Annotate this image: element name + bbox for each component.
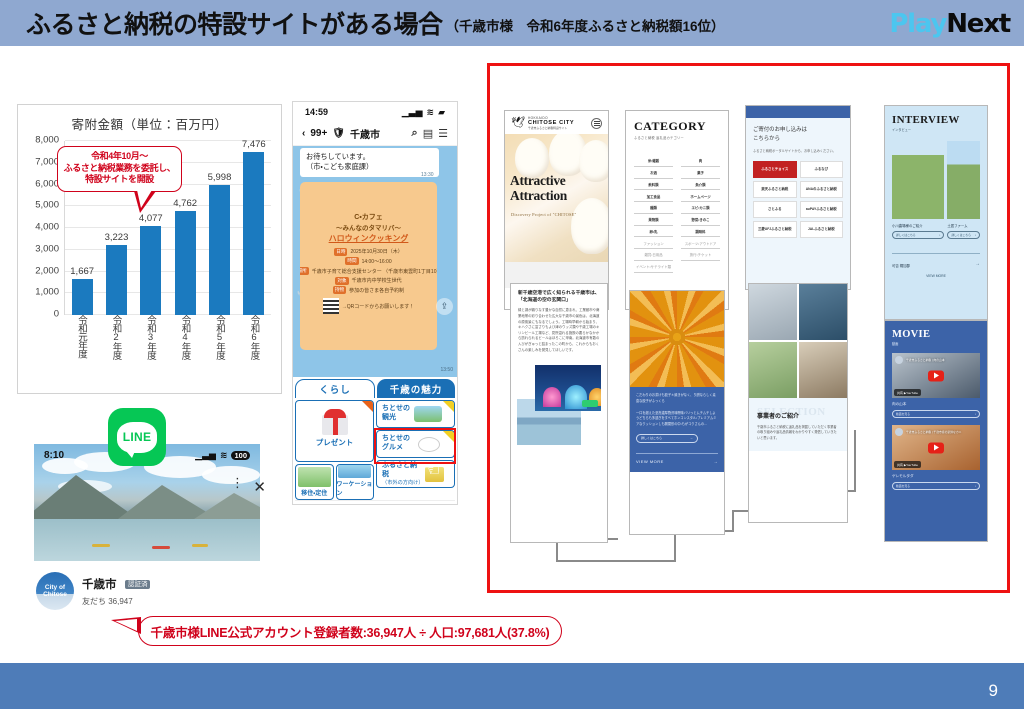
category-title: CATEGORY (634, 119, 720, 134)
slide-header: ふるさと納税の特設サイトがある場合 （千歳市様 令和6年度ふるさと納税額16位）… (0, 0, 1024, 46)
video-caption: 肉の山本 (892, 402, 980, 407)
chart-y-tick: 7,000 (35, 156, 59, 167)
arrow-right-icon: → (690, 436, 693, 440)
chart-x-tick: 令和6年度 (249, 315, 259, 387)
interview-caption-2: 土居ファーム (947, 223, 980, 228)
chart-x-tick-cell: 令和3年度 (133, 315, 168, 387)
chart-bar (209, 185, 230, 315)
video-header: 千歳市ふるさと納税 | 千歳市産の新鮮なカニ (895, 428, 977, 436)
playnext-logo: PlayNext (889, 9, 1010, 39)
kayak-shape (192, 544, 208, 547)
gift-icon (322, 415, 348, 435)
category-subtitle: ふるさと納税 返礼品カテゴリー (634, 135, 720, 140)
hero-title-line-2: Attraction (510, 188, 567, 203)
category-item[interactable]: イベント・サテライト類 (634, 261, 673, 273)
back-icon[interactable]: ‹ (302, 128, 305, 139)
site-mockup-top: 🕊 HOKKAIDO CHITOSE CITY 千歳市ふるさと納税特設サイト A… (504, 110, 609, 310)
hamburger-menu-icon[interactable] (591, 118, 602, 129)
phone-status-icons: ▁▃▅ ≋ ▰ (402, 107, 445, 118)
lake-water (34, 519, 260, 561)
hero-title-line-1: Attractive (510, 173, 565, 188)
selection-heading: 事業者のご紹介 (757, 411, 839, 420)
portal-logo-3[interactable]: 楽天ふるさと納税 (753, 181, 797, 198)
poster-title-2: ～みんなのタマリバ～ (304, 222, 433, 232)
poster-row-text: 2025年10月30日（木） (350, 248, 402, 255)
line-chat-phone-screenshot: 14:59 ▁▃▅ ≋ ▰ ‹ 99+ 🛡 千歳市 ⌕ ▤ ☰ 👻 👻 👻 お待… (292, 101, 458, 505)
video-caption: ゲレモルタダ (892, 474, 980, 479)
avatar-line-1: City of (45, 584, 65, 591)
meringue-shape (579, 140, 608, 182)
panel-top-strip (746, 106, 850, 118)
site-mockup-donation: ご寄付のお申し込みは こちらから ふるさと納税ポータルサイトから、お申し込みくだ… (745, 105, 851, 290)
video-thumbnail[interactable]: 千歳市ふるさと納税 | 肉の山本共有 ▶YouTube (892, 353, 980, 398)
product-paragraph-1: こだわりのお茶けも餃子＊焼きがなく、り餅ならしく素直な餃子がふっくら (636, 393, 718, 405)
close-icon[interactable]: ✕ (253, 478, 266, 496)
intro-heading-1: 新千歳空港で広く知られる千歳市は、 (518, 290, 600, 297)
avatar-line-2: Chitose (43, 591, 67, 598)
interview-title: INTERVIEW (892, 114, 980, 126)
poster-row-tag: 場所 (300, 267, 309, 275)
share-icon[interactable]: ⇪ (436, 298, 453, 315)
rich-menu-small-tiles: 移住・定住 ワーケーション (295, 464, 374, 500)
video-title: 千歳市ふるさと納税 | 千歳市産の新鮮なカニ (906, 430, 961, 434)
product-detail-label: 詳しくはこちら (641, 436, 662, 440)
site-mockup-intro: 新千歳空港で広く知られる千歳市は、 「北海道の空の玄関口」 緑と湖が織りなす豊か… (510, 283, 608, 543)
chat-message-bubble: お待ちしています。（市・こども家庭課） (300, 148, 439, 177)
chart-bar-group: 5,998 (202, 141, 236, 315)
line-registration-callout: 千歳市様LINE公式アカウント登録者数:36,947人 ÷ 人口:97,681人… (138, 616, 562, 646)
poster-row-tag: 日時 (334, 248, 347, 256)
callout-tail (134, 191, 156, 213)
selection-paragraph: 千歳市ふるさと納税に返礼品を掲載していただく事業者の取り組みや返礼品情報をわかり… (757, 425, 839, 442)
youtube-badge: 共有 ▶YouTube (894, 461, 921, 468)
chart-x-tick-cell: 令和4年度 (168, 315, 203, 387)
hero-subtitle: Discovery Project of "CHITOSE" (511, 212, 576, 217)
signal-icon: ▁▃▅ (195, 450, 216, 461)
site-mockup-interview: INTERVIEW インタビュー 小川農場様のご紹介 詳しくはこちら➝ 土居ファ… (884, 105, 988, 320)
connector-line (674, 532, 676, 562)
view-more-link[interactable]: VIEW MORE → (636, 453, 718, 464)
chart-x-tick-cell: 令和6年度 (237, 315, 272, 387)
category-item[interactable]: 飲料類 (634, 179, 673, 191)
callout-line-2: ふるさと納税業務を委託し、 (61, 163, 178, 175)
video-detail-button[interactable]: 動画を見る➝ (892, 482, 980, 490)
message-timestamp: 13:50 (440, 367, 453, 373)
play-icon[interactable] (928, 370, 944, 381)
donation-panel: ご寄付のお申し込みは こちらから ふるさと納税ポータルサイトから、お申し込みくだ… (746, 118, 850, 290)
page-number: 9 (989, 681, 998, 701)
movie-subtitle: 動画 (892, 341, 980, 346)
poster-detail-rows: 日時2025年10月30日（木）時間14:00～16:00場所千歳市子育て総合支… (304, 248, 433, 294)
more-options-icon[interactable]: ⋮ (231, 480, 244, 485)
battery-icon: 100 (231, 451, 250, 460)
interview-bottom-caption: 可否 幌加郡 (892, 263, 910, 268)
category-item[interactable]: スポーツ・アウトドア (681, 237, 720, 249)
donation-heading-1: ご寄付のお申し込みは (753, 126, 843, 135)
photo-badge (582, 400, 598, 407)
poster-row: 持物参加の皆さま各自予約制 (304, 286, 433, 294)
tile-workation-label: ワーケーション (337, 479, 374, 497)
chart-x-tick-cell: 令和5年度 (202, 315, 237, 387)
category-header: CATEGORY ふるさと納税 返礼品カテゴリー (626, 111, 728, 146)
portal-logo-1[interactable]: ふるさとチョイス (753, 161, 797, 178)
furusato-highlight-box (374, 428, 456, 464)
pill-label: 詳しくはこちら (951, 233, 971, 237)
site-mockup-product: こだわりのお茶けも餃子＊焼きがなく、り餅ならしく素直な餃子がふっくら 一口を超え… (629, 290, 725, 535)
video-detail-button[interactable]: 動画を見る➝ (892, 410, 980, 418)
chart-bar-value-label: 4,762 (173, 198, 197, 209)
poster-row: 対象千歳市内中学校生世代 (304, 277, 433, 285)
intro-paragraph: 緑と湖が織りなす豊かな自然に恵まれ、工業都市や商業地帯の彩り合わせた広大な千歳市… (518, 308, 600, 353)
category-item[interactable]: 雑貨・日用品 (634, 249, 673, 261)
arrow-right-icon: ➝ (974, 484, 976, 488)
chart-y-tick: 0 (54, 309, 59, 320)
intro-photo-group (511, 359, 607, 451)
play-icon[interactable] (928, 442, 944, 453)
page-title: ふるさと納税の特設サイトがある場合 (26, 5, 443, 41)
rich-menu-footer[interactable]: メニュー表示 ON/OFF・ (295, 500, 455, 505)
poster-row: 時間14:00～16:00 (304, 257, 433, 265)
wifi-icon: ≋ (220, 450, 228, 461)
chart-bar (140, 226, 161, 315)
slide: ふるさと納税の特設サイトがある場合 （千歳市様 令和6年度ふるさと納税額16位）… (0, 0, 1024, 709)
category-item[interactable]: 野菜・きのこ (681, 214, 720, 226)
calendar-icon[interactable]: ▤ (423, 127, 433, 140)
line-logo-text: LINE (123, 430, 152, 444)
tile-iju-label: 移住・定住 (301, 488, 327, 497)
movie-item: 千歳市ふるさと納税 | 肉の山本共有 ▶YouTube肉の山本動画を見る➝ (892, 353, 980, 418)
movie-video-list: 千歳市ふるさと納税 | 肉の山本共有 ▶YouTube肉の山本動画を見る➝千歳市… (892, 353, 980, 490)
interview-photo-2 (947, 141, 980, 219)
page-subtitle: （千歳市様 令和6年度ふるさと納税額16位） (446, 15, 725, 46)
chart-x-tick-cell: 令和2年度 (99, 315, 134, 387)
message-timestamp: 13:30 (421, 172, 434, 178)
category-item[interactable]: 魚介類 (681, 179, 720, 191)
business-photo (799, 342, 847, 398)
search-icon[interactable]: ⌕ (412, 127, 418, 140)
pill-label: 動画を見る (896, 484, 910, 488)
interview-caption-1: 小川農場様のご紹介 (892, 223, 944, 228)
video-thumbnail[interactable]: 千歳市ふるさと納税 | 千歳市産の新鮮なカニ共有 ▶YouTube (892, 425, 980, 470)
channel-avatar-icon (895, 356, 903, 364)
business-photo (749, 284, 797, 340)
video-header: 千歳市ふるさと納税 | 肉の山本 (895, 356, 977, 364)
keyboard-icon[interactable] (299, 505, 308, 506)
connector-line (732, 510, 734, 532)
phone-status-time: 14:59 (305, 107, 328, 117)
category-item (681, 261, 720, 273)
rich-menu-footer-label: メニュー表示 ON/OFF・ (334, 504, 417, 506)
site-mockup-category: CATEGORY ふるさと納税 返礼品カテゴリー 米・雑穀肉お酒菓子飲料類魚介類… (625, 110, 729, 310)
phone-nav-bar: ‹ 99+ 🛡 千歳市 ⌕ ▤ ☰ (293, 122, 457, 146)
bird-logo-icon: 🕊 (511, 118, 525, 129)
line-rich-menu: くらし 千歳の魅力 プレゼント 移住・定住 (293, 377, 457, 505)
poster-row-tag: 持物 (333, 286, 346, 294)
poster-row-text: 千歳市内中学校生世代 (352, 277, 402, 284)
chart-title: 寄附金額（単位：百万円） (18, 114, 281, 133)
kayak-shape (152, 546, 170, 549)
category-list: 米・雑穀肉お酒菓子飲料類魚介類加工食品ホームページ麺類エビ・カニ類果物類野菜・き… (626, 155, 728, 273)
unread-badge: 99+ (310, 128, 327, 139)
chart-y-tick: 3,000 (35, 243, 59, 254)
chart-bar-value-label: 1,667 (70, 266, 94, 277)
business-photo-grid (749, 284, 847, 398)
youtube-badge: 共有 ▶YouTube (894, 389, 921, 396)
site-hero-image: Attractive Attraction Discovery Project … (505, 134, 608, 262)
line-account-info: 千歳市 認証済 友だち 36,947 (82, 575, 150, 607)
connector-line (556, 540, 558, 562)
battery-icon: ▰ (438, 107, 445, 118)
rich-menu-left-column: プレゼント 移住・定住 ワーケーション (295, 400, 374, 500)
qr-code-icon (323, 298, 339, 314)
kayak-shape (92, 544, 110, 547)
movie-panel: MOVIE 動画 千歳市ふるさと納税 | 肉の山本共有 ▶YouTube肉の山本… (885, 321, 987, 541)
shield-icon: 🛡 (332, 128, 345, 139)
movie-title: MOVIE (892, 329, 980, 340)
verified-badge: 認証済 (125, 580, 151, 589)
callout-line-3: 特設サイトを開設 (61, 174, 178, 186)
chart-x-tick: 令和2年度 (111, 315, 121, 387)
connector-line (556, 560, 676, 562)
tab-kurashi[interactable]: くらし (295, 379, 375, 398)
chart-x-tick: 令和3年度 (146, 315, 156, 387)
category-item[interactable]: ファッション (634, 237, 673, 249)
avatar: City of Chitose (36, 572, 74, 610)
event-poster-image[interactable]: C・カフェ ～みんなのタマリバ～ ハロウィンクッキング 日時2025年10月30… (300, 182, 437, 350)
chart-x-tick: 令和元年度 (77, 315, 87, 387)
arrow-right-icon: ➝ (974, 233, 976, 237)
poster-row-text: 参加の皆さま各自予約制 (349, 287, 404, 294)
brand-tagline: 千歳市ふるさと納税特設サイト (528, 126, 574, 130)
chart-y-tick: 8,000 (35, 135, 59, 146)
portal-logo-8[interactable]: JALふるさと納税 (800, 221, 844, 238)
poster-row-tag: 対象 (335, 277, 348, 285)
portal-logo-5[interactable]: さとふる (753, 201, 797, 218)
tile-present-label: プレゼント (316, 437, 354, 448)
interview-detail-button-2[interactable]: 詳しくはこちら➝ (947, 231, 980, 239)
portal-logo-4[interactable]: ANAのふるさと納税 (800, 181, 844, 198)
chart-bar (72, 279, 93, 315)
corner-ribbon-icon (443, 401, 454, 412)
category-item[interactable]: 肉 (681, 155, 720, 167)
donation-note: ふるさと納税ポータルサイトから、お申し込みください。 (753, 149, 843, 154)
logo-next-text: Next (946, 9, 1010, 39)
view-more-label: VIEW MORE (636, 459, 664, 464)
category-item[interactable]: エビ・カニ類 (681, 202, 720, 214)
tile-tourism-label: ちとせの観光 (382, 405, 410, 423)
category-item[interactable]: 果物類 (634, 214, 673, 226)
channel-avatar-icon (895, 428, 903, 436)
arrow-right-icon: → (975, 261, 980, 267)
meringue-shape (571, 198, 608, 254)
site-header: 🕊 HOKKAIDO CHITOSE CITY 千歳市ふるさと納税特設サイト (505, 111, 608, 134)
signal-icon: ▁▃▅ (402, 107, 423, 118)
site-mockup-selection: SELECTION 事業者のご紹介 千歳市ふるさと納税に返礼品を掲載していただく… (748, 283, 848, 523)
poster-row-tag: 時間 (345, 257, 358, 265)
category-item[interactable]: お酒 (634, 167, 673, 179)
tile-image (414, 406, 442, 422)
poster-title-1: C・カフェ (304, 212, 433, 222)
line-account-profile: City of Chitose 千歳市 認証済 友だち 36,947 (36, 572, 150, 610)
chart-bar (243, 152, 264, 315)
illumination-shape (543, 387, 561, 407)
poster-row-text: 千歳市子育て総合支援センター （千歳市東雲町1丁目10） (312, 268, 437, 275)
portal-logo-grid: ふるさとチョイスふるなび楽天ふるさと納税ANAのふるさと納税さとふるauPAYふ… (753, 161, 843, 238)
pointing-hand-icon: ☜ (423, 457, 441, 482)
poster-row: 日時2025年10月30日（木） (304, 248, 433, 256)
phone-status-bar: 14:59 ▁▃▅ ≋ ▰ (293, 102, 457, 122)
chart-x-tick: 令和5年度 (215, 315, 225, 387)
interview-view-more[interactable]: VIEW MORE (892, 274, 980, 278)
interview-detail-button-1[interactable]: 詳しくはこちら➝ (892, 231, 944, 239)
gyoza-photo (630, 291, 724, 387)
chart-y-tick: 6,000 (35, 178, 59, 189)
arrow-right-icon: ➝ (974, 412, 976, 416)
category-item[interactable]: 加工食品 (634, 190, 673, 202)
line-registration-text: 千歳市様LINE公式アカウント登録者数:36,947人 ÷ 人口:97,681人… (151, 622, 550, 641)
chart-bar (175, 211, 196, 315)
pill-label: 詳しくはこちら (896, 233, 916, 237)
night-festival-photo (535, 365, 601, 411)
poster-apply-note: →QRコードからお願いします！ (342, 303, 415, 310)
meringue-shape (515, 138, 549, 178)
interview-photo-1 (892, 141, 944, 219)
poster-row: 場所千歳市子育て総合支援センター （千歳市東雲町1丁目10） (304, 267, 433, 275)
portal-logo-7[interactable]: 三菱UFJふるさと納税 (753, 221, 797, 238)
corner-ribbon-icon (362, 401, 373, 412)
category-item[interactable]: 調味料 (681, 226, 720, 238)
menu-icon[interactable]: ☰ (438, 127, 448, 140)
tab-chitose-miryoku[interactable]: 千歳の魅力 (377, 379, 455, 398)
pill-label: 動画を見る (896, 412, 910, 416)
category-item[interactable]: 麺類 (634, 202, 673, 214)
interview-panel: INTERVIEW インタビュー 小川農場様のご紹介 詳しくはこちら➝ 土居ファ… (885, 106, 987, 319)
mountain-shape (194, 493, 260, 519)
product-description-panel: こだわりのお茶けも餃子＊焼きがなく、り餅ならしく素直な餃子がふっくら 一口を超え… (630, 387, 724, 472)
chart-bar-value-label: 5,998 (208, 172, 232, 183)
category-item[interactable]: 旅行・チケット (681, 249, 720, 261)
poster-title-3: ハロウィンクッキング (304, 233, 433, 244)
connector-line (854, 430, 856, 492)
selection-panel: SELECTION 事業者のご紹介 千歳市ふるさと納税に返礼品を掲載していただく… (749, 398, 847, 452)
portal-logo-2[interactable]: ふるなび (800, 161, 844, 178)
chart-y-tick: 5,000 (35, 200, 59, 211)
donation-heading-2: こちらから (753, 135, 843, 144)
connector-line (610, 170, 612, 172)
video-title: 千歳市ふるさと納税 | 肉の山本 (906, 358, 945, 362)
chart-bar-value-label: 3,223 (105, 232, 129, 243)
line-status-icons: ▁▃▅ ≋ 100 (195, 450, 250, 461)
chat-area: 👻 👻 👻 お待ちしています。（市・こども家庭課） 13:30 C・カフェ ～み… (293, 146, 457, 377)
callout-line-1: 令和4年10月～ (61, 151, 178, 163)
tile-furusato-label-1: ふるさと納税 (382, 462, 422, 480)
chart-x-tick-cell: 令和元年度 (64, 315, 99, 387)
portal-logo-6[interactable]: auPAYふるさと納税 (800, 201, 844, 218)
tile-workation[interactable]: ワーケーション (336, 464, 375, 500)
arrow-right-icon: → (714, 459, 719, 464)
account-name-row: 千歳市 認証済 (82, 575, 150, 593)
line-app-icon: LINE (108, 408, 166, 466)
intro-heading-2: 「北海道の空の玄関口」 (518, 297, 600, 304)
business-photo (799, 284, 847, 340)
category-item[interactable]: ホームページ (681, 190, 720, 202)
interview-photos (892, 141, 980, 219)
product-paragraph-2: 一口を超えた至高濃厚贅沢味噌味バリっとムチムチしようどちらも多過ぎをすべてホンコ… (636, 411, 718, 428)
interview-subtitle: インタビュー (892, 127, 980, 132)
chat-title: 千歳市 (350, 126, 380, 141)
line-bubble-shape: LINE (117, 422, 157, 453)
chart-y-tick: 4,000 (35, 222, 59, 233)
chart-bar-value-label: 7,476 (242, 139, 266, 150)
chart-y-tick: 2,000 (35, 265, 59, 276)
tile-present[interactable]: プレゼント (295, 400, 374, 462)
chart-bar (106, 245, 127, 315)
chart-x-tick: 令和4年度 (180, 315, 190, 387)
arrow-right-icon: ➝ (938, 233, 940, 237)
logo-play-text: Play (889, 9, 946, 39)
tile-iju-teiju[interactable]: 移住・定住 (295, 464, 334, 500)
hero-title: Attractive Attraction (510, 174, 567, 203)
tile-furusato-label-2: （市外の方向け） (382, 479, 422, 486)
movie-item: 千歳市ふるさと納税 | 千歳市産の新鮮なカニ共有 ▶YouTubeゲレモルタダ動… (892, 425, 980, 490)
site-intro-body: 新千歳空港で広く知られる千歳市は、 「北海道の空の玄関口」 緑と湖が織りなす豊か… (511, 284, 607, 359)
callout-tail (111, 617, 141, 634)
site-brand: 🕊 HOKKAIDO CHITOSE CITY 千歳市ふるさと納税特設サイト (511, 116, 574, 130)
site-mockup-movie: MOVIE 動画 千歳市ふるさと納税 | 肉の山本共有 ▶YouTube肉の山本… (884, 320, 988, 542)
tile-image (298, 467, 331, 487)
slide-footer: 9 (0, 663, 1024, 709)
product-detail-button[interactable]: 詳しくはこちら → (636, 434, 698, 443)
chart-y-tick: 1,000 (35, 287, 59, 298)
wifi-icon: ≋ (427, 107, 435, 118)
business-photo (749, 342, 797, 398)
chart-x-axis-labels: 令和元年度令和2年度令和3年度令和4年度令和5年度令和6年度 (64, 315, 271, 387)
poster-row-text: 14:00～16:00 (362, 258, 392, 265)
tile-furusato-nozei[interactable]: ふるさと納税 （市外の方向け） (376, 460, 455, 488)
category-item[interactable]: 米・雑穀 (634, 155, 673, 167)
account-name: 千歳市 (82, 579, 117, 591)
chart-annotation-callout: 令和4年10月～ ふるさと納税業務を委託し、 特設サイトを開設 (57, 146, 182, 192)
tile-tourism[interactable]: ちとせの観光 (376, 400, 455, 428)
tile-image (338, 465, 371, 478)
chart-bar-value-label: 4,077 (139, 213, 163, 224)
chart-bar-group: 7,476 (237, 141, 271, 315)
line-status-time: 8:10 (44, 450, 64, 461)
rich-menu-tabs: くらし 千歳の魅力 (295, 379, 455, 398)
category-item[interactable]: 卵・乳 (634, 226, 673, 238)
category-item[interactable]: 菓子 (681, 167, 720, 179)
friends-count: 友だち 36,947 (82, 596, 150, 607)
